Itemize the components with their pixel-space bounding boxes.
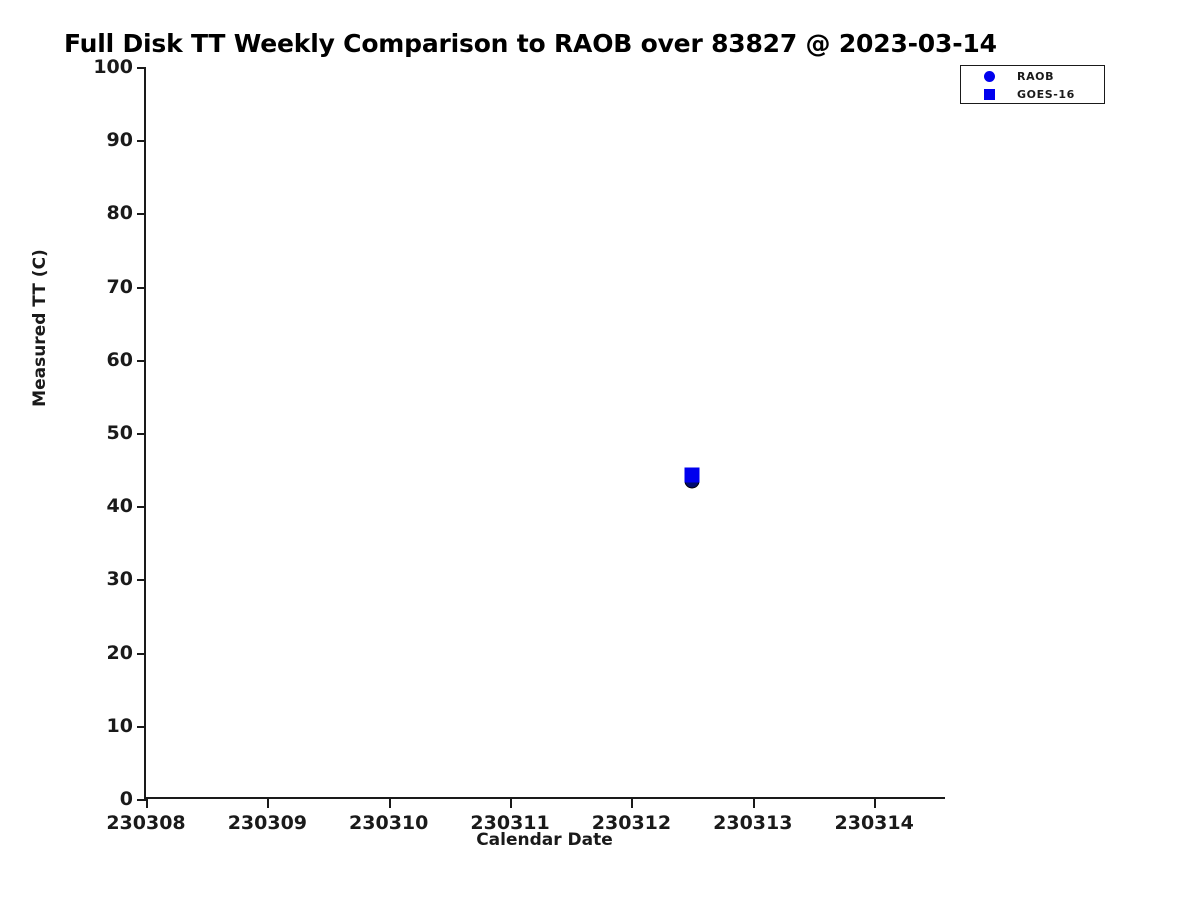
y-tick-label: 0 [120, 788, 133, 810]
legend-item-goes16[interactable]: GOES-16 [961, 85, 1104, 104]
legend-square-icon [961, 89, 1017, 100]
y-tick-mark [137, 67, 146, 69]
y-tick-label: 50 [107, 422, 133, 444]
y-tick-label: 70 [107, 276, 133, 298]
y-tick-label: 20 [107, 642, 133, 664]
page-title: Full Disk TT Weekly Comparison to RAOB o… [64, 29, 997, 58]
x-tick-mark [753, 799, 755, 808]
legend-circle-icon [961, 71, 1017, 82]
legend-item-raob[interactable]: RAOB [961, 67, 1104, 86]
x-tick-mark [146, 799, 148, 808]
y-tick-label: 80 [107, 202, 133, 224]
y-tick-mark [137, 140, 146, 142]
y-tick-label: 40 [107, 495, 133, 517]
y-tick-mark [137, 799, 146, 801]
y-tick-mark [137, 433, 146, 435]
y-tick-label: 10 [107, 715, 133, 737]
y-tick-mark [137, 506, 146, 508]
y-tick-label: 60 [107, 349, 133, 371]
y-tick-mark [137, 213, 146, 215]
legend: RAOB GOES-16 [960, 65, 1105, 104]
x-tick-mark [267, 799, 269, 808]
y-tick-mark [137, 579, 146, 581]
chart-figure: Full Disk TT Weekly Comparison to RAOB o… [0, 0, 1200, 900]
y-tick-mark [137, 726, 146, 728]
y-tick-label: 90 [107, 129, 133, 151]
y-tick-mark [137, 360, 146, 362]
y-tick-label: 30 [107, 568, 133, 590]
x-tick-mark [510, 799, 512, 808]
y-tick-mark [137, 287, 146, 289]
legend-label-raob: RAOB [1017, 70, 1054, 83]
plot-area: 0102030405060708090100 23030823030923031… [144, 67, 945, 799]
x-tick-mark [389, 799, 391, 808]
x-tick-mark [631, 799, 633, 808]
y-tick-label: 100 [93, 56, 133, 78]
legend-label-goes16: GOES-16 [1017, 88, 1075, 101]
x-tick-mark [874, 799, 876, 808]
y-tick-mark [137, 653, 146, 655]
x-axis-title: Calendar Date [144, 830, 945, 850]
data-point-goes-16 [685, 467, 700, 482]
y-axis-title: Measured TT (C) [30, 248, 50, 408]
